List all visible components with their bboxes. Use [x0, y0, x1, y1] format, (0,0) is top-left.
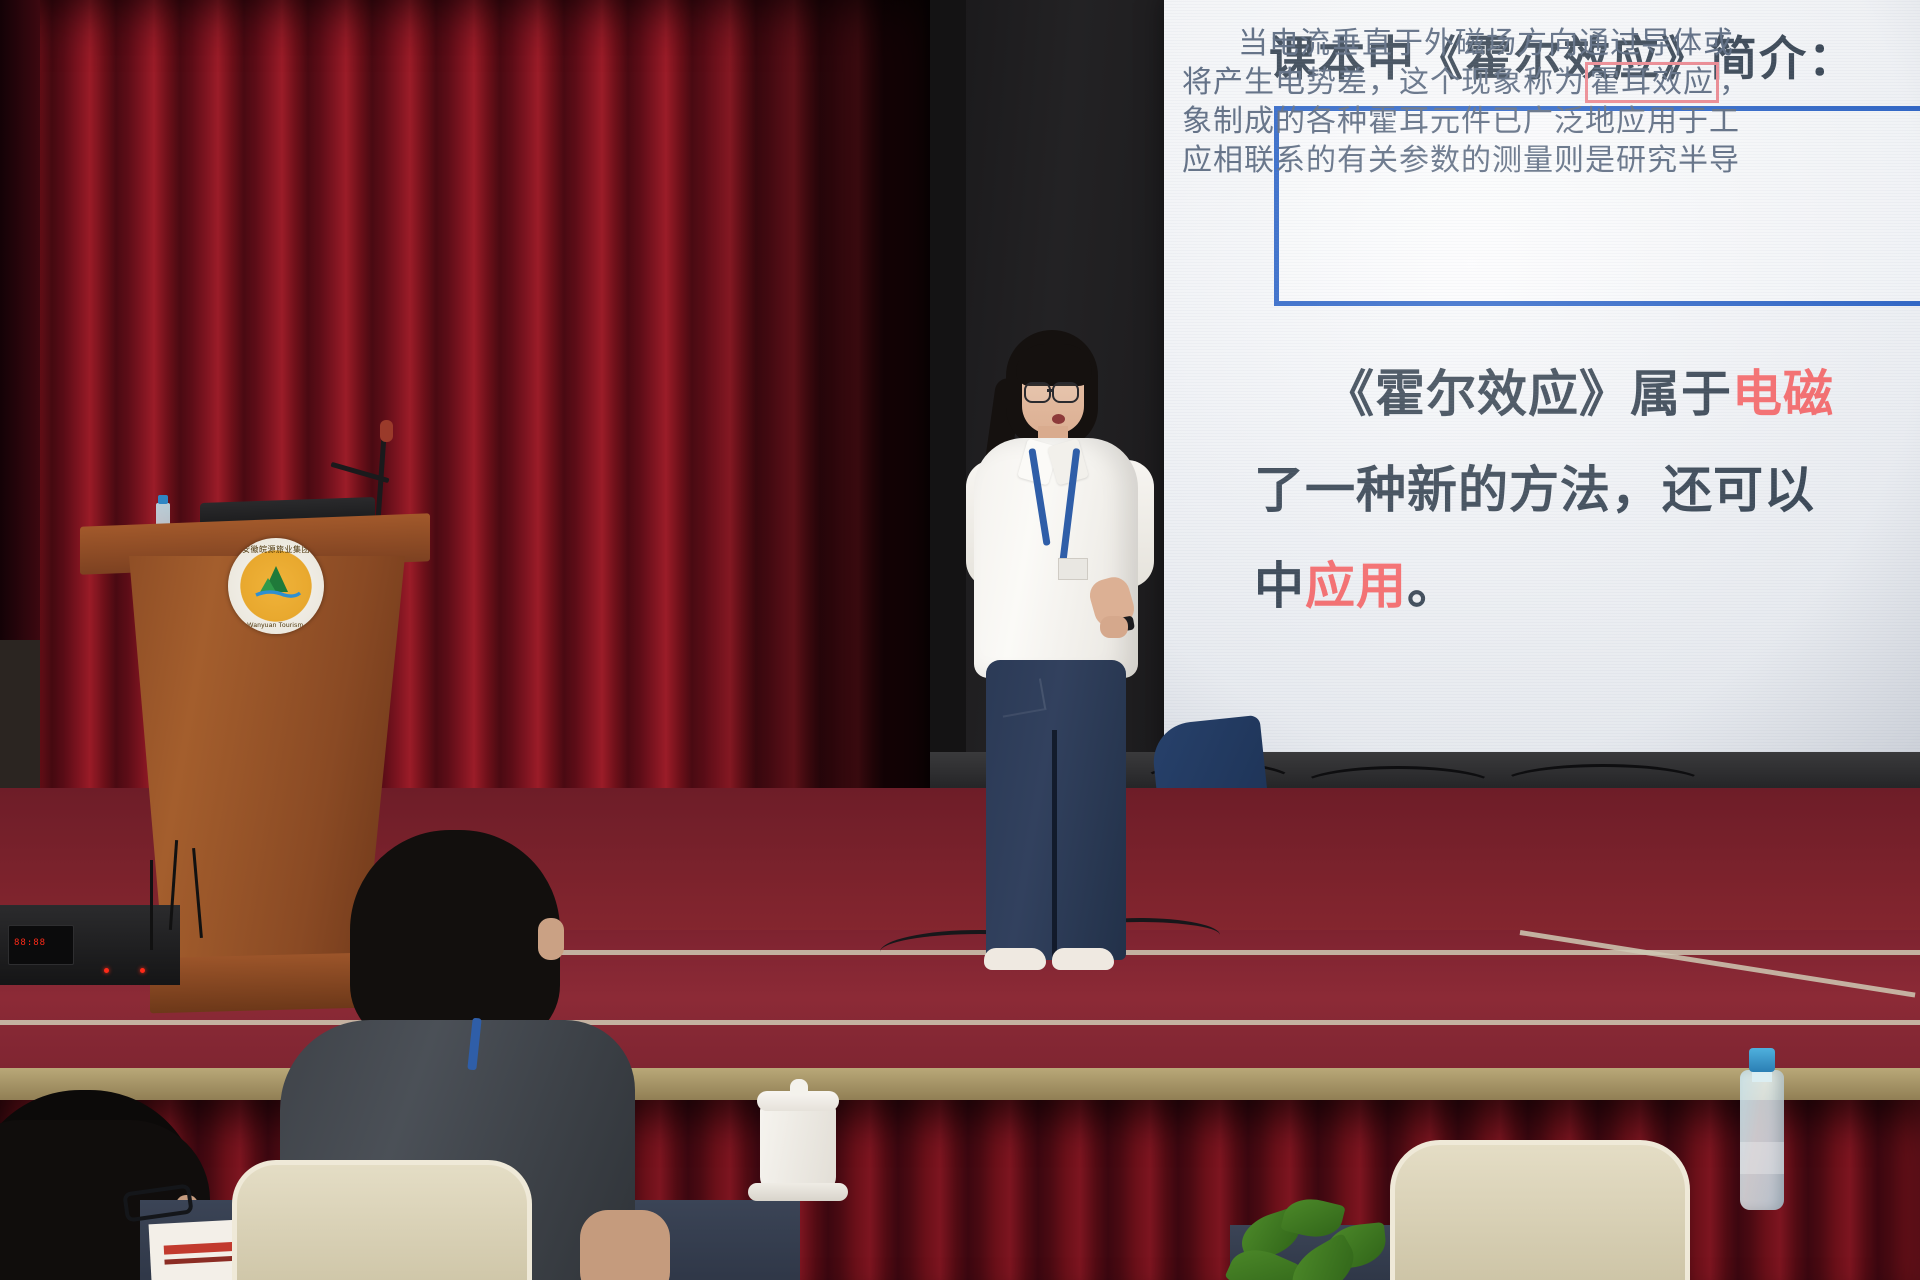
body-line-1-accent: 电磁	[1732, 366, 1834, 422]
body-line-1: 《霍尔效应》属于电磁	[1242, 346, 1920, 442]
audience-center-arm	[580, 1210, 670, 1280]
mountain-wave-logo-icon	[250, 562, 302, 602]
body-line-3-accent: 应用	[1305, 558, 1407, 614]
presenter-trouser-seam	[1052, 730, 1057, 958]
body-line-3: 中应用。	[1242, 538, 1920, 634]
quote-line-2: 将产生电势差，这个现象称为	[1182, 66, 1585, 99]
presentation-scene-photo: 课本中《霍尔效应》简介： 当电流垂直于外磁场方向通过导体或 将产生电势差，这个现…	[0, 0, 1920, 1280]
body-line-1-plain: 《霍尔效应》属于	[1324, 366, 1732, 422]
glasses-lens-right-icon	[1052, 382, 1079, 403]
body-line-2-plain: 了一种新的方法，还可以	[1254, 462, 1815, 518]
presenter-figure	[960, 330, 1180, 990]
audience-chair-right	[1390, 1140, 1690, 1280]
presenter-mouth	[1052, 414, 1065, 424]
water-bottle-right	[1740, 1070, 1784, 1210]
presenter-shoe-left	[984, 948, 1046, 970]
audience-center-ear	[538, 918, 564, 960]
logo-english-text: Anhui Wanyuan Tourism Group	[228, 622, 324, 629]
quote-line-4: 应相联系的有关参数的测量则是研究半导	[1182, 141, 1920, 180]
av-status-led-2	[140, 968, 145, 973]
body-line-3-plain: 中	[1254, 558, 1305, 614]
handout-red-bar-2	[164, 1256, 236, 1265]
microphone-head	[380, 420, 393, 442]
teacup-knob	[790, 1079, 808, 1095]
bottle-cap-icon	[158, 495, 168, 504]
quote-highlight-1: 霍耳效应	[1585, 62, 1719, 103]
teacup-saucer	[748, 1183, 848, 1201]
presenter-badge	[1058, 558, 1088, 580]
audience-chair-left	[232, 1160, 532, 1280]
av-display-readout: 88:88	[14, 938, 46, 948]
quote-highlight-1-tail: ，	[1719, 66, 1750, 99]
quote-line-3: 象制成的各种霍耳元件已广泛地应用于工	[1182, 105, 1740, 138]
bottle-cap-3	[1749, 1048, 1775, 1072]
bottle-label-3	[1740, 1142, 1784, 1174]
quote-line-1: 当电流垂直于外磁场方向通过导体或	[1182, 24, 1920, 63]
presenter-shoe-right	[1052, 948, 1114, 970]
slide-content: 课本中《霍尔效应》简介： 当电流垂直于外磁场方向通过导体或 将产生电势差，这个现…	[1164, 0, 1920, 764]
av-cable-1	[150, 860, 153, 950]
glasses-bridge-icon	[1047, 389, 1053, 392]
organization-logo: 安徽皖源旅业集团 Anhui Wanyuan Tourism Group	[228, 538, 324, 634]
av-control-display: 88:88	[8, 925, 74, 965]
quote-line-2-wrap: 将产生电势差，这个现象称为霍耳效应，	[1182, 63, 1920, 102]
slide-body-text: 《霍尔效应》属于电磁 了一种新的方法，还可以 中应用。	[1242, 346, 1920, 634]
projection-screen: 课本中《霍尔效应》简介： 当电流垂直于外磁场方向通过导体或 将产生电势差，这个现…	[1164, 0, 1920, 764]
slide-quote-paragraph: 当电流垂直于外磁场方向通过导体或 将产生电势差，这个现象称为霍耳效应， 象制成的…	[1164, 24, 1920, 180]
presenter-hair-front	[1016, 344, 1092, 386]
potted-plant	[1230, 1195, 1420, 1280]
body-line-3-period: 。	[1407, 558, 1458, 614]
presenter-hand	[1100, 616, 1128, 638]
av-status-led-1	[104, 968, 109, 973]
logo-chinese-text: 安徽皖源旅业集团	[242, 544, 310, 555]
teacup	[760, 1105, 836, 1193]
quote-line-3-wrap: 象制成的各种霍耳元件已广泛地应用于工	[1182, 102, 1920, 141]
audience-center-head	[350, 830, 560, 1045]
body-line-2: 了一种新的方法，还可以	[1242, 442, 1920, 538]
glasses-lens-left-icon	[1024, 382, 1051, 403]
